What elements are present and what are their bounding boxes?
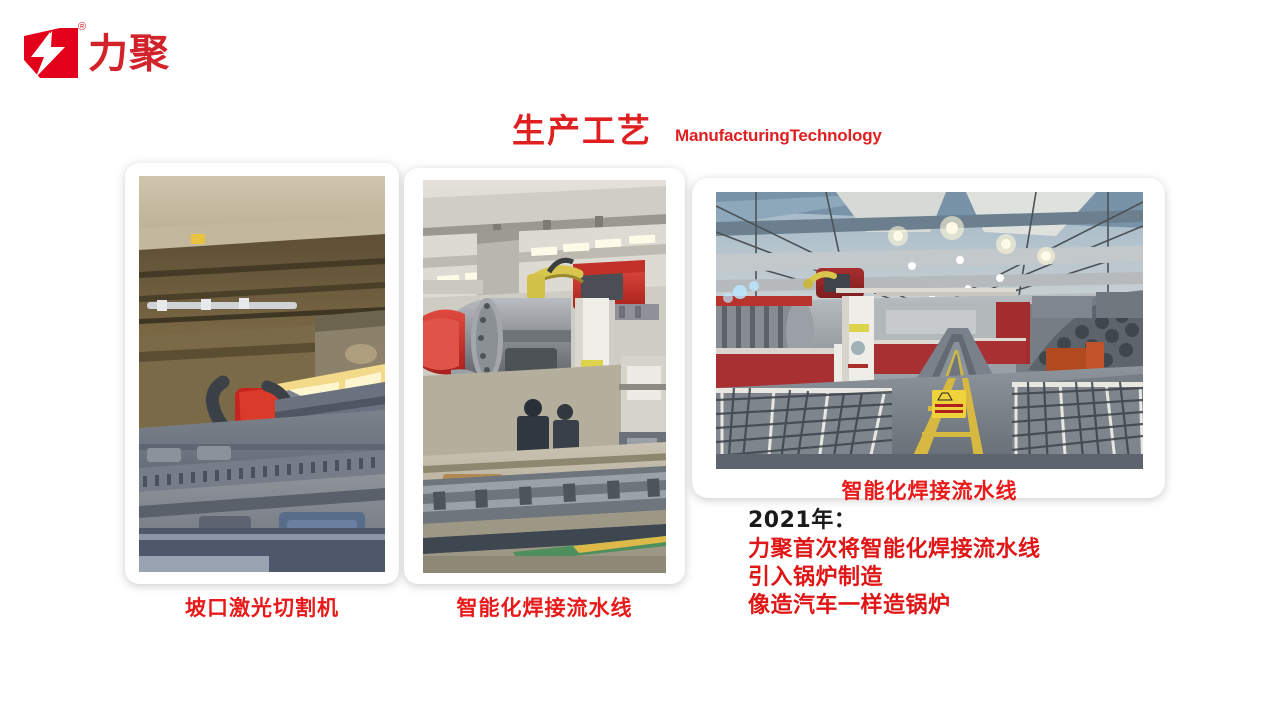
slide-canvas: ® 力聚 生产工艺 ManufacturingTechnology (0, 0, 1280, 720)
photo-frame (423, 180, 666, 573)
page-title-en: ManufacturingTechnology (675, 126, 882, 146)
note-year: 2021年： (748, 506, 1178, 536)
page-title: 生产工艺 ManufacturingTechnology (512, 113, 882, 149)
note-line-3: 像造汽车一样造锅炉 (748, 592, 1178, 620)
photo-card-welding-line-closeup (404, 168, 685, 584)
photo-caption-welding-line-closeup: 智能化焊接流水线 (404, 595, 685, 621)
photo-welding-line-wide (716, 192, 1143, 469)
lightning-flag-logo-icon (20, 26, 82, 82)
company-logo: ® 力聚 (20, 24, 200, 84)
brand-name: 力聚 (88, 32, 170, 76)
photo-frame (139, 176, 385, 572)
photo-card-gouge-laser-cutter (125, 163, 399, 584)
photo-card-welding-line-wide: 智能化焊接流水线 (692, 178, 1165, 498)
photo-laser-cutting-machine (139, 176, 385, 572)
note-line-2: 引入锅炉制造 (748, 564, 1178, 592)
page-title-cn: 生产工艺 (512, 113, 652, 149)
photo-welding-line-closeup (423, 180, 666, 573)
note-line-1: 力聚首次将智能化焊接流水线 (748, 536, 1178, 564)
photo-frame (716, 192, 1143, 469)
photo-caption-welding-line-wide: 智能化焊接流水线 (716, 478, 1143, 504)
registered-trademark-icon: ® (78, 22, 86, 33)
note-block: 2021年： 力聚首次将智能化焊接流水线 引入锅炉制造 像造汽车一样造锅炉 (748, 506, 1178, 620)
photo-caption-gouge-laser-cutter: 坡口激光切割机 (125, 595, 399, 621)
